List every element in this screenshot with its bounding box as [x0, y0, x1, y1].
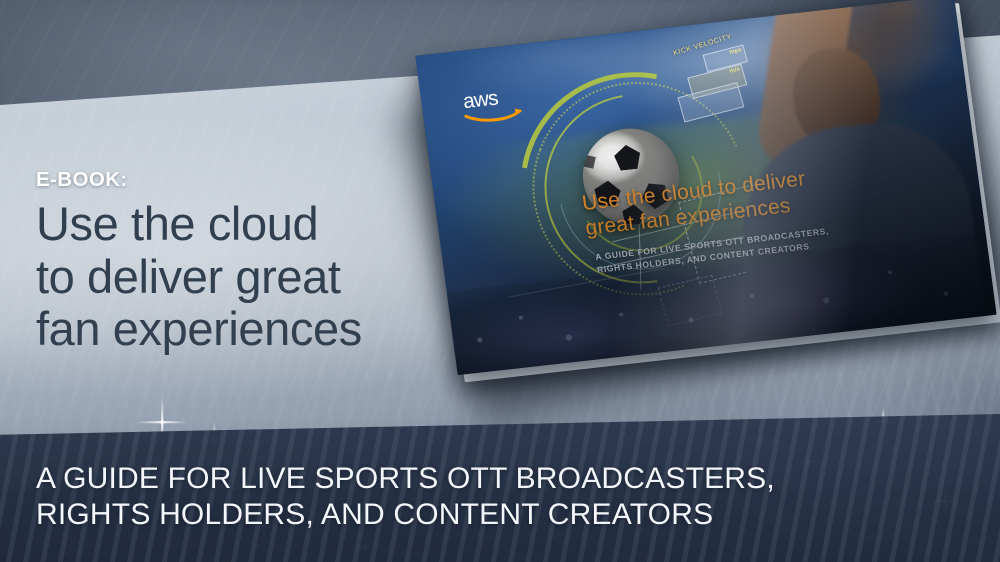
banner-subtitle: A GUIDE FOR LIVE SPORTS OTT BROADCASTERS… [36, 461, 960, 532]
page-title: Use the cloud to deliver great fan exper… [36, 198, 466, 356]
ebook-mockup: KICK VELOCITY mps m/s [396, 48, 1000, 448]
headline-line-3: fan experiences [36, 302, 362, 355]
banner-line-1: A GUIDE FOR LIVE SPORTS OTT BROADCASTERS… [36, 461, 960, 496]
headline-line-2: to deliver great [36, 250, 341, 303]
headline-block: E-BOOK: Use the cloud to deliver great f… [36, 168, 466, 356]
banner-line-2: RIGHTS HOLDERS, AND CONTENT CREATORS [36, 497, 960, 532]
eyebrow-label: E-BOOK: [36, 168, 466, 192]
headline-line-1: Use the cloud [36, 197, 318, 250]
ebook-promo-banner: KICK VELOCITY mps m/s [0, 0, 1000, 562]
book-cover: KICK VELOCITY mps m/s [415, 0, 996, 375]
cover-glare [415, 0, 996, 375]
